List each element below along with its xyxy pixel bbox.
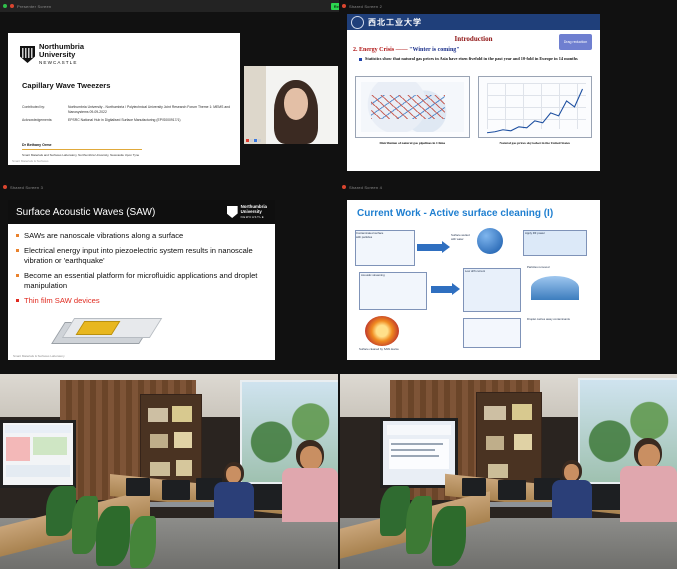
slide1-footnote: Smart Materials and Surfaces Laboratory,… xyxy=(22,153,230,157)
chart-image xyxy=(478,76,593,138)
more-icon[interactable] xyxy=(258,139,261,142)
plant xyxy=(96,506,130,566)
bullet-icon xyxy=(16,274,19,277)
pane-mid-left-bar: Shared Screen 3 xyxy=(0,181,338,193)
list-item: SAWs are nanoscale vibrations along a su… xyxy=(16,231,267,241)
logo-line-3: NEWCASTLE xyxy=(241,215,267,219)
list-item-text: Thin film SAW devices xyxy=(24,296,100,306)
diagram-flame xyxy=(365,316,399,346)
book xyxy=(512,404,532,420)
diagram-label-5: Low drift current xyxy=(465,270,505,274)
figure-caption-left: Distribution of natural gas pipelines in… xyxy=(355,141,470,145)
slide3-bullet-list: SAWs are nanoscale vibrations along a su… xyxy=(8,224,275,306)
book xyxy=(486,436,504,450)
avatar-body xyxy=(282,468,338,522)
avatar-face xyxy=(638,444,660,468)
book xyxy=(174,432,192,448)
price-line-series xyxy=(487,83,586,138)
bullet-icon xyxy=(16,234,19,237)
logo-line-3: NEWCASTLE xyxy=(39,59,84,66)
diagram-label-3: Apply RF power xyxy=(525,232,565,236)
metadata-value: Northumbria University - Northumbria / P… xyxy=(68,105,230,115)
slide-introduction-energy-crisis: 西北工业大学 Introduction Drag reduction 2. En… xyxy=(347,14,600,171)
pane-top-right[interactable]: 西北工业大学 Introduction Drag reduction 2. En… xyxy=(339,0,677,180)
metadata-value: EPSRC National Hub in Digitalised Surfac… xyxy=(68,118,230,123)
book xyxy=(150,434,168,448)
diagram-box-5 xyxy=(463,318,521,348)
plant xyxy=(432,506,466,566)
saw-device-diagram xyxy=(58,314,153,348)
display-content xyxy=(391,455,439,457)
slide3-footnote: Smart Materials & Surfaces Laboratory xyxy=(13,354,65,358)
drag-reduction-chip: Drag reduction xyxy=(559,34,592,50)
avatar-body xyxy=(552,480,592,518)
mic-icon[interactable] xyxy=(246,139,249,142)
list-item-highlighted: Thin film SAW devices xyxy=(16,296,267,306)
figure-caption-right: Natural gas prices skyrocket in the Unit… xyxy=(478,141,593,145)
pane-mid-left[interactable]: Shared Screen 3 Surface Acoustic Waves (… xyxy=(0,181,338,373)
diagram-droplet xyxy=(477,228,503,254)
record-status-dot xyxy=(342,4,346,8)
pane-top-right-bar: Shared Screen 2 xyxy=(339,0,677,12)
display-content xyxy=(33,437,67,455)
share-icon[interactable] xyxy=(254,139,257,142)
display-content xyxy=(6,465,70,477)
university-seal-icon xyxy=(351,16,364,29)
camera-controls[interactable] xyxy=(246,139,261,142)
avatar-body xyxy=(620,466,677,522)
metadata-row: Acknowledgements: EPSRC National Hub in … xyxy=(22,118,230,123)
record-status-dot xyxy=(10,4,14,8)
plant xyxy=(130,516,156,568)
slide1-author: Dr Bethany Orme xyxy=(22,143,52,147)
metadata-key: Contributed by: xyxy=(22,105,62,115)
record-status-dot xyxy=(342,185,346,189)
list-item-text: Become an essential platform for microfl… xyxy=(24,271,267,291)
university-name: 西北工业大学 xyxy=(368,17,422,28)
divider xyxy=(22,149,142,150)
bullet-square-icon xyxy=(359,58,362,61)
display-content xyxy=(5,425,71,433)
figure-pipeline-map: Distribution of natural gas pipelines in… xyxy=(355,76,470,145)
slide2-bullet: Statistics show that natural gas prices … xyxy=(359,56,592,62)
laptop xyxy=(498,480,526,500)
bullet-icon xyxy=(16,249,19,252)
arrow-right-icon xyxy=(417,244,443,251)
slide1-title: Capillary Wave Tweezers xyxy=(22,81,110,90)
northumbria-logo: Northumbria University NEWCASTLE xyxy=(20,43,240,66)
pane-label-top-left: Presenter Screen xyxy=(17,4,51,9)
display-content xyxy=(387,425,451,435)
slide3-header: Surface Acoustic Waves (SAW) Northumbria… xyxy=(8,200,275,224)
heading-quote: "Winter is coming" xyxy=(409,47,459,53)
display-content xyxy=(6,437,30,461)
metadata-row: Contributed by: Northumbria University -… xyxy=(22,105,230,115)
avatar-face xyxy=(564,464,579,481)
northumbria-logo: Northumbria University NEWCASTLE xyxy=(227,205,267,219)
arrow-right-icon-2 xyxy=(431,286,453,293)
pane-label-top-right: Shared Screen 2 xyxy=(349,4,382,9)
slide2-figures: Distribution of natural gas pipelines in… xyxy=(355,76,592,145)
book xyxy=(514,434,532,450)
list-item-text: Electrical energy input into piezoelectr… xyxy=(24,246,267,266)
list-item-text: SAWs are nanoscale vibrations along a su… xyxy=(24,231,183,241)
slide1-metadata: Contributed by: Northumbria University -… xyxy=(22,105,230,126)
laptop xyxy=(126,478,150,496)
pane-label-mid-right: Shared Screen 4 xyxy=(349,185,382,190)
diagram-label-6: Particles removed xyxy=(527,266,577,270)
logo-line-2: University xyxy=(39,51,84,59)
china-map-graphic xyxy=(361,82,464,132)
shield-icon xyxy=(227,206,238,218)
map-image xyxy=(355,76,470,138)
slide-current-work-active-surface-cleaning: Current Work - Active surface cleaning (… xyxy=(347,200,600,360)
diagram-dome xyxy=(531,276,579,300)
pane-label-mid-left: Shared Screen 3 xyxy=(10,185,43,190)
wall-display xyxy=(0,420,76,488)
plant xyxy=(72,496,98,554)
diagram-label-2: Surface wetted with water xyxy=(451,234,475,241)
book xyxy=(176,460,192,476)
slide4-diagram: Contaminated surface with particles Surf… xyxy=(355,226,592,352)
avatar-face xyxy=(226,466,241,483)
video-conference-recording-grid: Presenter Screen Recording in progress M… xyxy=(0,0,677,569)
figure-gas-price-chart: Natural gas prices skyrocket in the Unit… xyxy=(478,76,593,145)
pane-mid-right-bar: Shared Screen 4 xyxy=(339,181,677,193)
display-content xyxy=(391,443,443,445)
slide1-bottom-label: Smart Materials & Surfaces xyxy=(12,159,49,163)
book xyxy=(150,462,170,476)
diagram-label-1: Contaminated surface with particles xyxy=(356,232,384,239)
camera-tile-presenter[interactable] xyxy=(244,66,338,144)
pane-mid-right[interactable]: Shared Screen 4 Current Work - Active su… xyxy=(339,181,677,373)
avatar-body xyxy=(214,482,254,518)
diagram-label-8: Droplet carries away contaminants xyxy=(527,318,583,322)
room-camera-right[interactable] xyxy=(340,374,677,569)
book xyxy=(488,464,508,478)
plant xyxy=(406,496,432,554)
list-item: Electrical energy input into piezoelectr… xyxy=(16,246,267,266)
camera-icon[interactable] xyxy=(250,139,253,142)
live-status-dot xyxy=(3,4,7,8)
bullet-icon xyxy=(16,299,19,302)
room-camera-left[interactable] xyxy=(0,374,338,569)
book xyxy=(484,406,506,420)
slide-capillary-wave-tweezers: Northumbria University NEWCASTLE Capilla… xyxy=(8,33,240,165)
book xyxy=(172,406,192,422)
laptop xyxy=(462,478,486,496)
list-item: Become an essential platform for microfl… xyxy=(16,271,267,291)
laptop xyxy=(162,480,190,500)
shield-icon xyxy=(20,46,35,63)
slide-surface-acoustic-waves: Surface Acoustic Waves (SAW) Northumbria… xyxy=(8,200,275,360)
avatar-face xyxy=(284,88,308,120)
bullet-text: Statistics show that natural gas prices … xyxy=(365,56,578,62)
avatar-face xyxy=(300,446,322,470)
diagram-label-7: Surface cleaned by SAW device xyxy=(359,348,411,352)
diagram-label-4: Acoustic streaming xyxy=(361,274,401,278)
diagram-box-3 xyxy=(359,272,427,310)
slide4-title: Current Work - Active surface cleaning (… xyxy=(357,208,600,219)
heading-number: 2. Energy Crisis —— xyxy=(353,47,409,53)
slide2-header: 西北工业大学 xyxy=(347,14,600,30)
pane-top-left[interactable]: Northumbria University NEWCASTLE Capilla… xyxy=(0,12,338,180)
display-content xyxy=(391,449,435,451)
slide3-title: Surface Acoustic Waves (SAW) xyxy=(16,207,155,218)
record-status-dot xyxy=(3,185,7,189)
metadata-key: Acknowledgements: xyxy=(22,118,62,123)
book xyxy=(148,408,168,422)
diagram-box-4 xyxy=(463,268,521,312)
